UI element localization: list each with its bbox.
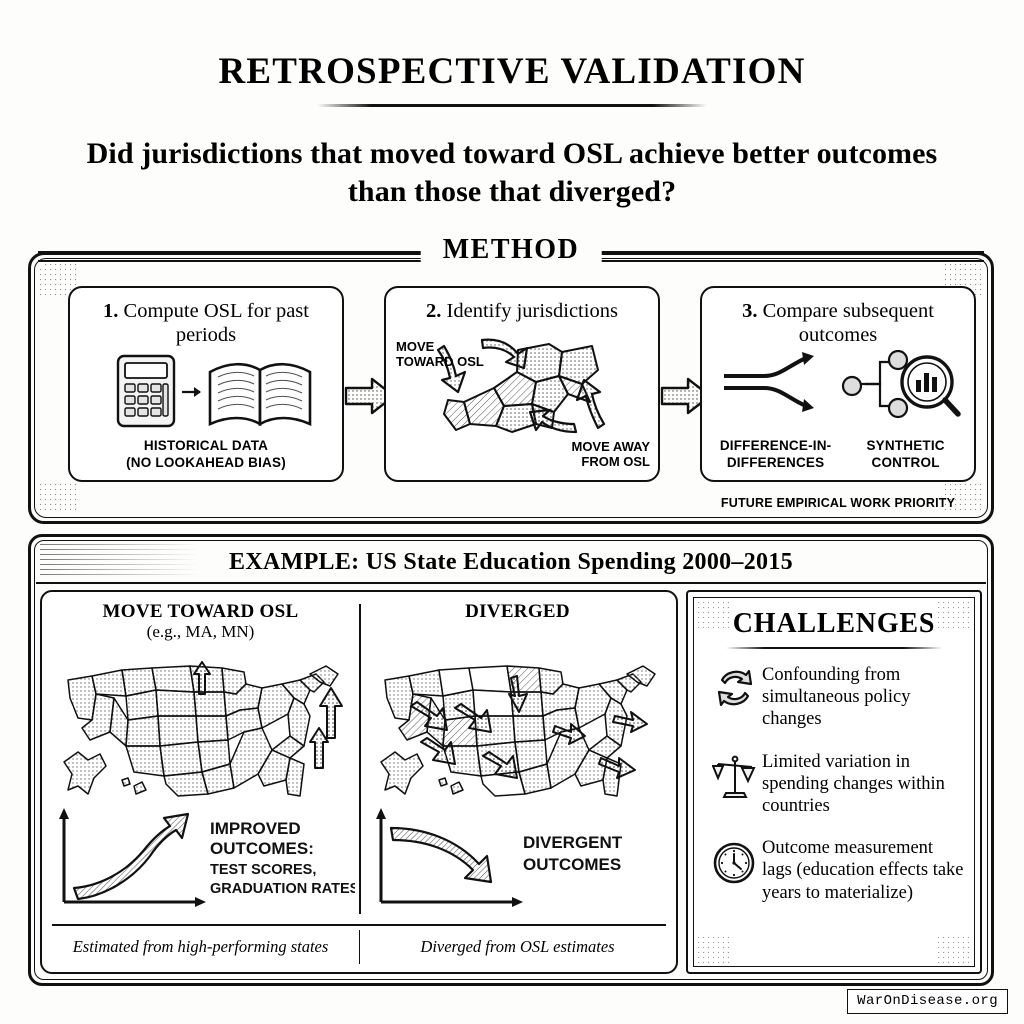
example-comparison-panels: MOVE TOWARD OSL (e.g., MA, MN) bbox=[40, 590, 678, 974]
step-3-method-a-line2: DIFFERENCES bbox=[713, 455, 838, 471]
divergent-line-2: OUTCOMES bbox=[523, 855, 621, 874]
panel-move-toward-osl: MOVE TOWARD OSL (e.g., MA, MN) bbox=[42, 592, 359, 926]
rising-trend-chart: IMPROVED OUTCOMES: TEST SCORES, GRADUATI… bbox=[48, 806, 355, 918]
method-header-label: METHOD bbox=[421, 234, 602, 266]
comparison-methods-illustration bbox=[702, 350, 978, 422]
divergent-outcomes-chart: DIVERGENT OUTCOMES bbox=[365, 806, 670, 918]
example-section: EXAMPLE: US State Education Spending 200… bbox=[28, 534, 994, 986]
challenge-text: Outcome measurement lags (education effe… bbox=[762, 837, 964, 904]
balance-scales-icon bbox=[708, 751, 762, 801]
us-map-improved bbox=[48, 654, 353, 806]
challenges-title-rule bbox=[726, 647, 942, 649]
example-header: EXAMPLE: US State Education Spending 200… bbox=[36, 542, 986, 584]
calculator-icon bbox=[118, 356, 174, 426]
chart-axes bbox=[376, 808, 523, 907]
outcome-line-1: IMPROVED bbox=[210, 819, 301, 838]
step-3-title: 3. Compare subsequent outcomes bbox=[712, 299, 964, 347]
step-2-label-toward: MOVE TOWARD OSL bbox=[396, 340, 484, 370]
method-section: METHOD 1. Compute OSL for past periods bbox=[28, 252, 994, 524]
recycle-arrows-icon bbox=[708, 664, 762, 710]
method-steps: 1. Compute OSL for past periods bbox=[68, 282, 954, 506]
method-header-band: METHOD bbox=[28, 238, 994, 268]
watermark: WarOnDisease.org bbox=[847, 989, 1008, 1014]
step-3-method-a: DIFFERENCE-IN- DIFFERENCES bbox=[713, 438, 838, 471]
challenges-title: CHALLENGES bbox=[688, 608, 980, 640]
us-map-up-arrows-illustration bbox=[48, 654, 355, 806]
outcome-line-3: TEST SCORES, bbox=[210, 862, 316, 878]
panel-right-title: DIVERGED bbox=[359, 601, 676, 623]
step-2-label-toward-line2: TOWARD OSL bbox=[396, 355, 484, 370]
method-step-2: 2. Identify jurisdictions bbox=[384, 286, 660, 482]
step-1-artwork bbox=[70, 344, 342, 436]
future-work-note: FUTURE EMPIRICAL WORK PRIORITY bbox=[700, 496, 976, 510]
page-title: RETROSPECTIVE VALIDATION bbox=[0, 50, 1024, 93]
challenges-list: Confounding from simultaneous policy cha… bbox=[708, 664, 964, 924]
step-3-caption: DIFFERENCE-IN- DIFFERENCES SYNTHETIC CON… bbox=[708, 438, 968, 471]
panel-right-caption: Diverged from OSL estimates bbox=[359, 930, 676, 964]
us-map-diverged bbox=[365, 654, 670, 806]
method-step-1: 1. Compute OSL for past periods bbox=[68, 286, 344, 482]
panel-left-caption: Estimated from high-performing states bbox=[42, 930, 359, 964]
step-3-method-b-line1: SYNTHETIC bbox=[848, 438, 962, 454]
outcome-line-4: GRADUATION RATES bbox=[210, 881, 355, 897]
step-1-caption: HISTORICAL DATA (NO LOOKAHEAD BIAS) bbox=[76, 438, 336, 471]
falling-arrow-icon bbox=[391, 828, 491, 882]
clock-icon bbox=[708, 837, 762, 887]
challenge-item: Limited variation in spending changes wi… bbox=[708, 751, 964, 818]
step-1-caption-line2: (NO LOOKAHEAD BIAS) bbox=[76, 455, 336, 471]
page-subtitle: Did jurisdictions that moved toward OSL … bbox=[80, 135, 944, 212]
falling-trend-chart: DIVERGENT OUTCOMES bbox=[365, 806, 672, 918]
step-3-text: Compare subsequent outcomes bbox=[757, 300, 934, 346]
diverging-arrows-icon bbox=[724, 352, 814, 412]
method-step-3: 3. Compare subsequent outcomes bbox=[700, 286, 976, 482]
title-divider bbox=[317, 104, 707, 107]
example-body: MOVE TOWARD OSL (e.g., MA, MN) bbox=[36, 586, 986, 978]
challenge-item: Confounding from simultaneous policy cha… bbox=[708, 664, 964, 731]
step-1-text: Compute OSL for past periods bbox=[118, 300, 309, 346]
step-3-artwork bbox=[702, 350, 974, 422]
challenge-item: Outcome measurement lags (education effe… bbox=[708, 837, 964, 904]
step-1-title: 1. Compute OSL for past periods bbox=[80, 299, 332, 347]
example-header-label: EXAMPLE: US State Education Spending 200… bbox=[229, 549, 793, 576]
panel-diverged: DIVERGED bbox=[359, 592, 676, 926]
panel-left-title: MOVE TOWARD OSL bbox=[42, 601, 359, 623]
outcome-line-2: OUTCOMES: bbox=[210, 839, 314, 858]
panel-left-subtitle: (e.g., MA, MN) bbox=[42, 623, 359, 642]
divergent-line-1: DIVERGENT bbox=[523, 833, 623, 852]
infographic-page: RETROSPECTIVE VALIDATION Did jurisdictio… bbox=[0, 0, 1024, 1024]
step-2-label-away-line2: FROM OSL bbox=[571, 455, 650, 470]
step-2-label-away-line1: MOVE AWAY bbox=[571, 440, 650, 455]
improved-outcomes-label: IMPROVED OUTCOMES: TEST SCORES, GRADUATI… bbox=[210, 819, 355, 897]
challenges-panel: CHALLENGES Confounding from simultaneous… bbox=[686, 590, 982, 974]
improved-outcomes-chart: IMPROVED OUTCOMES: TEST SCORES, GRADUATI… bbox=[48, 806, 353, 918]
step-3-number: 3. bbox=[742, 300, 757, 322]
challenge-text: Confounding from simultaneous policy cha… bbox=[762, 664, 964, 731]
rising-arrow-icon bbox=[74, 814, 188, 899]
network-magnifier-icon bbox=[843, 351, 958, 417]
calculator-book-illustration bbox=[70, 344, 346, 436]
step-1-number: 1. bbox=[103, 300, 118, 322]
us-map-down-arrows-illustration bbox=[365, 654, 672, 806]
small-right-arrow-icon bbox=[182, 387, 201, 397]
example-header-hatch bbox=[40, 544, 200, 578]
open-book-icon bbox=[210, 364, 310, 424]
step-2-title: 2. Identify jurisdictions bbox=[396, 299, 648, 323]
step-1-caption-line1: HISTORICAL DATA bbox=[76, 438, 336, 454]
step-3-method-a-line1: DIFFERENCE-IN- bbox=[713, 438, 838, 454]
step-2-text: Identify jurisdictions bbox=[441, 300, 618, 322]
challenge-text: Limited variation in spending changes wi… bbox=[762, 751, 964, 818]
step-3-method-b: SYNTHETIC CONTROL bbox=[848, 438, 962, 471]
divergent-outcomes-label: DIVERGENT OUTCOMES bbox=[523, 833, 623, 874]
step-2-label-toward-line1: MOVE bbox=[396, 340, 484, 355]
step-2-number: 2. bbox=[426, 300, 441, 322]
step-2-label-away: MOVE AWAY FROM OSL bbox=[571, 440, 650, 470]
step-3-method-b-line2: CONTROL bbox=[848, 455, 962, 471]
